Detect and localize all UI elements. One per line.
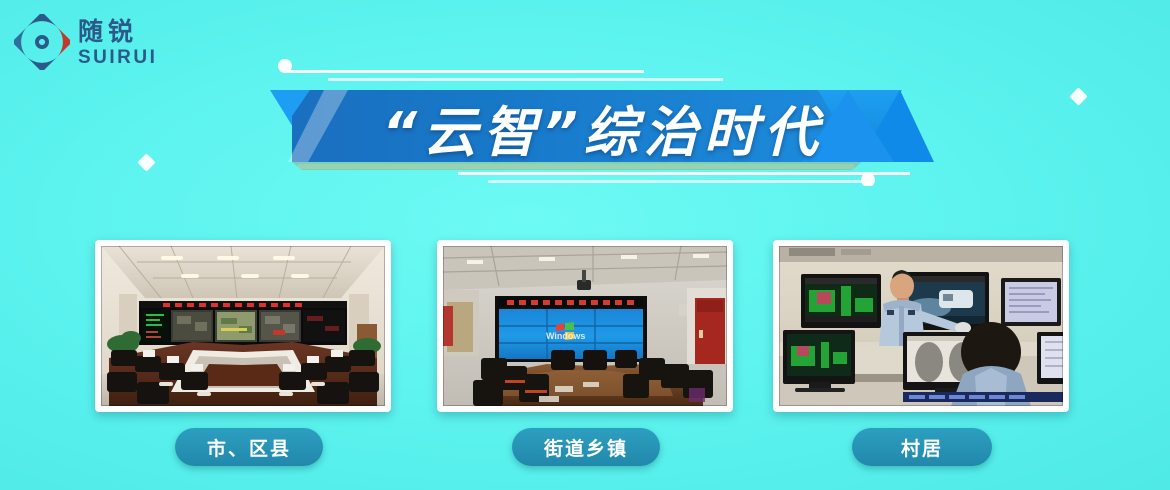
banner-dot-top-left	[278, 59, 292, 73]
banner-top-rules	[286, 70, 723, 81]
banner-bottom-rules	[458, 172, 910, 183]
photo-card-city-district[interactable]	[95, 240, 391, 412]
banner-title-text: “云智”综治时代	[262, 88, 934, 166]
brand-logo[interactable]: 随锐 SUIRUI	[14, 14, 157, 70]
village-residence-monitoring-photo-icon	[779, 246, 1063, 406]
suirui-pinwheel-logo-icon	[14, 14, 70, 70]
street-township-meeting-room-photo-icon: Windows	[443, 246, 727, 406]
label-pill-street-township[interactable]: 街道乡镇	[512, 428, 660, 466]
decorative-diamond-left	[137, 153, 155, 171]
decorative-diamond-right	[1069, 87, 1087, 105]
photo-card-row: Windows	[0, 240, 1170, 420]
svg-text:Windows: Windows	[546, 331, 585, 341]
photo-card-village-residence[interactable]	[773, 240, 1069, 412]
brand-name-en: SUIRUI	[78, 48, 157, 67]
label-pill-village-residence[interactable]: 村居	[852, 428, 992, 466]
label-pill-city-district[interactable]: 市、区县	[175, 428, 323, 466]
photo-card-street-township[interactable]: Windows	[437, 240, 733, 412]
brand-name-cn: 随锐	[78, 19, 157, 44]
brand-wordmark: 随锐 SUIRUI	[78, 17, 157, 67]
poster-canvas: 随锐 SUIRUI	[0, 0, 1170, 490]
title-banner: “云智”综治时代	[262, 58, 934, 186]
city-district-command-center-photo-icon	[101, 246, 385, 406]
